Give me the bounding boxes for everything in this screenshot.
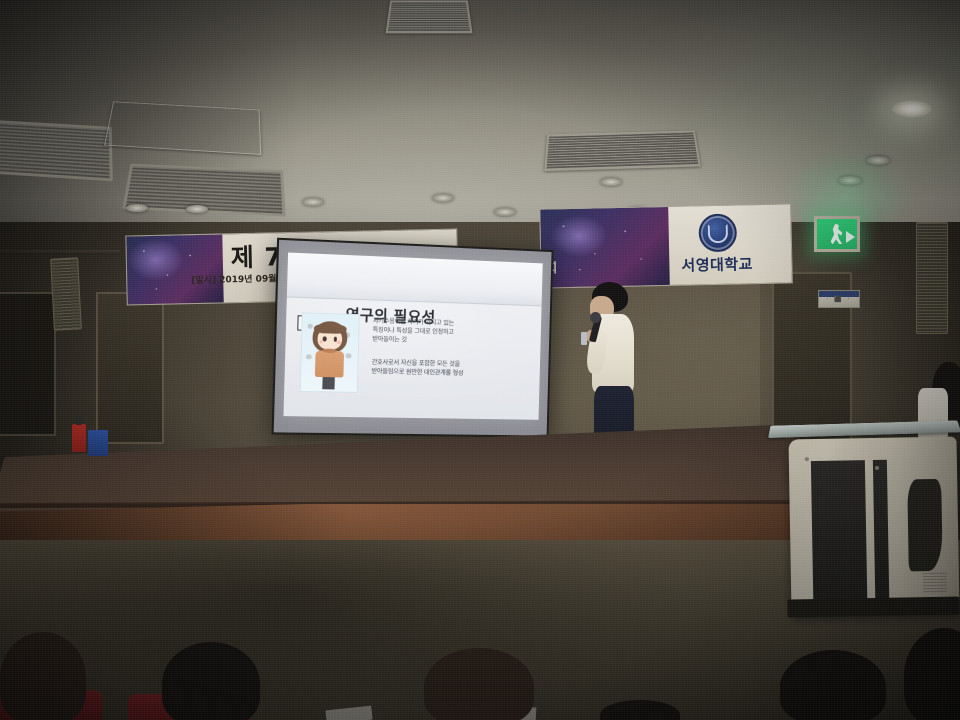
exit-arrow-icon <box>846 231 855 243</box>
illustration-puff <box>307 324 312 329</box>
ceiling-air-vent <box>544 130 700 171</box>
character-cheek-right <box>337 341 341 344</box>
door-sign-plate: · ⬛ · <box>818 290 860 308</box>
podium-front-panel-2 <box>873 460 889 602</box>
recycle-bin <box>88 430 108 456</box>
character-legs <box>323 376 336 389</box>
ceiling-ac-unit <box>0 120 113 181</box>
character-bangs <box>314 323 346 334</box>
university-crest-icon <box>698 214 737 253</box>
door-sign-label: · ⬛ · <box>826 296 851 303</box>
presentation-clicker[interactable] <box>581 332 587 345</box>
presentation-slide: Ⅰ. 서론 연구의 필요성 <box>283 253 543 420</box>
podium-front-panel <box>811 460 867 603</box>
banner-artwork <box>540 207 670 288</box>
audience-head <box>780 650 886 720</box>
audience-head <box>0 632 86 720</box>
podium-screw <box>805 457 809 461</box>
auditorium-scene: · ⬛ · 제 7 [일시] 2019년 09월 회 서영대학교 Ⅰ. 서론 연… <box>0 0 960 720</box>
university-name: 서영대학교 <box>681 253 753 275</box>
projection-screen-surface: Ⅰ. 서론 연구의 필요성 <box>274 240 552 436</box>
emergency-exit-sign <box>814 216 860 252</box>
ceiling-downlight <box>302 198 324 206</box>
lit-ceiling-spotlight <box>892 100 932 118</box>
projection-screen-frame: Ⅰ. 서론 연구의 필요성 <box>272 238 554 438</box>
wall-speaker-left <box>50 257 82 330</box>
slide-illustration <box>300 312 359 393</box>
banner-artwork <box>126 234 223 304</box>
event-banner-right: 회 서영대학교 <box>539 203 793 288</box>
slide-paragraph-2: 간호사로서 자신을 포함한 모든 것을 받아들임으로 원만한 대인관계를 형성 <box>371 359 463 379</box>
podium-screw <box>875 466 879 470</box>
podium <box>788 437 959 616</box>
ceiling-air-vent <box>386 1 473 34</box>
running-person-icon <box>831 224 845 244</box>
character-eye-left <box>322 336 326 342</box>
podium-base <box>787 597 959 618</box>
podium-side-cutout <box>907 479 943 572</box>
ceiling-downlight <box>432 194 454 202</box>
character-body <box>315 350 343 377</box>
ceiling-vent-outline <box>104 101 261 155</box>
fire-extinguisher <box>72 424 86 452</box>
side-door-left[interactable] <box>0 292 56 436</box>
ceiling-downlight <box>494 208 516 216</box>
back-door-left[interactable] <box>96 292 164 444</box>
character-cheek-left <box>319 340 323 343</box>
audience-head <box>162 642 260 720</box>
ceiling-downlight <box>126 204 148 212</box>
ceiling-downlight <box>600 178 622 186</box>
ceiling-downlight <box>186 205 208 213</box>
microphone-head <box>590 312 601 323</box>
illustration-puff <box>345 353 351 359</box>
character-collar <box>323 349 336 353</box>
slide-header-band <box>287 253 543 307</box>
audience-head <box>424 648 534 720</box>
slide-paragraph-1: 자기수용이란 자기가 가지고 있는 특징이나 특성을 그대로 인정하고 받아들이… <box>372 318 454 347</box>
banner-date: [일시] 2019년 09월 <box>191 271 276 286</box>
podium-vent <box>923 573 947 593</box>
wall-speaker-right <box>916 222 948 334</box>
illustration-puff <box>305 354 312 360</box>
